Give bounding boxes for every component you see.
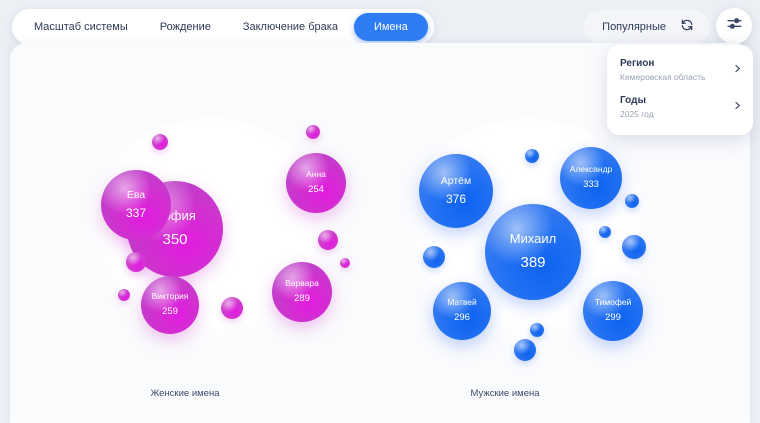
bubble-name-label: Варвара [285, 279, 319, 289]
bubble-female-1[interactable]: Ева337 [101, 170, 171, 240]
bubble-male-1[interactable]: Артём376 [419, 154, 493, 228]
bubble-name-label: Виктория [152, 292, 189, 302]
bubble-value-label: 289 [294, 294, 310, 305]
bubble-female-2[interactable]: Варвара289 [272, 262, 332, 322]
bubble-dot-male-3 [599, 226, 611, 238]
bubble-value-label: 254 [308, 185, 324, 196]
bubble-name-label: Тимофей [595, 298, 632, 308]
bubble-dot-female-2 [126, 252, 146, 272]
tab-system-scale[interactable]: Масштаб системы [18, 14, 144, 40]
filter-dropdown-panel: Регион Кемеровская область Годы 2025 год [607, 45, 753, 135]
bubble-value-label: 389 [520, 254, 545, 271]
bubble-value-label: 333 [583, 180, 599, 191]
refresh-swap-icon[interactable] [680, 18, 694, 37]
bubble-dot-male-0 [525, 149, 539, 163]
dropdown-row-region[interactable]: Регион Кемеровская область [607, 52, 753, 89]
tab-marriages[interactable]: Заключение брака [227, 14, 354, 40]
bubble-dot-female-1 [306, 125, 320, 139]
tab-births[interactable]: Рождение [144, 14, 227, 40]
chevron-right-icon [733, 99, 742, 117]
bubble-dot-female-5 [340, 258, 350, 268]
bubble-name-label: Матвей [447, 298, 477, 308]
bubble-name-label: Анна [306, 170, 326, 180]
bubble-dot-female-4 [318, 230, 338, 250]
bubble-value-label: 350 [162, 231, 187, 248]
tab-names[interactable]: Имена [354, 13, 428, 41]
bubble-value-label: 337 [126, 207, 146, 221]
bubble-dot-male-5 [514, 339, 536, 361]
bubble-value-label: 299 [605, 313, 621, 324]
bubble-value-label: 296 [454, 313, 470, 324]
popular-label: Популярные [602, 21, 666, 33]
bubble-dot-male-4 [622, 235, 646, 259]
bubble-value-label: 376 [446, 193, 466, 207]
caption-female: Женские имена [20, 388, 350, 399]
dropdown-years-value: 2025 год [620, 108, 739, 121]
filter-settings-button[interactable] [716, 8, 752, 44]
bubble-male-0[interactable]: Михаил389 [485, 204, 581, 300]
bubble-dot-female-0 [152, 134, 168, 150]
bubble-name-label: Ева [127, 189, 145, 201]
bubble-dot-male-1 [625, 194, 639, 208]
bubble-female-3[interactable]: Виктория259 [141, 276, 199, 334]
caption-male: Мужские имена [340, 388, 670, 399]
tab-bar: Масштаб системы Рождение Заключение брак… [12, 9, 434, 45]
bubble-value-label: 259 [162, 307, 178, 318]
bubble-dot-male-2 [423, 246, 445, 268]
bubble-dot-female-3 [118, 289, 130, 301]
bubble-male-3[interactable]: Тимофей299 [583, 281, 643, 341]
chevron-right-icon [733, 62, 742, 80]
sliders-filter-icon [726, 15, 743, 37]
app-root: Масштаб системы Рождение Заключение брак… [0, 0, 760, 423]
dropdown-row-years[interactable]: Годы 2025 год [607, 89, 753, 126]
bubble-name-label: Александр [570, 165, 613, 175]
bubble-name-label: Артём [441, 175, 471, 187]
bubble-male-2[interactable]: Александр333 [560, 147, 622, 209]
bubble-dot-male-6 [530, 323, 544, 337]
dropdown-region-value: Кемеровская область [620, 71, 739, 84]
bubble-male-4[interactable]: Матвей296 [433, 282, 491, 340]
dropdown-region-title: Регион [620, 57, 739, 71]
popular-toggle[interactable]: Популярные [584, 10, 710, 44]
bubble-name-label: Михаил [510, 232, 557, 247]
bubble-dot-female-6 [221, 297, 243, 319]
dropdown-years-title: Годы [620, 94, 739, 108]
bubble-female-4[interactable]: Анна254 [286, 153, 346, 213]
